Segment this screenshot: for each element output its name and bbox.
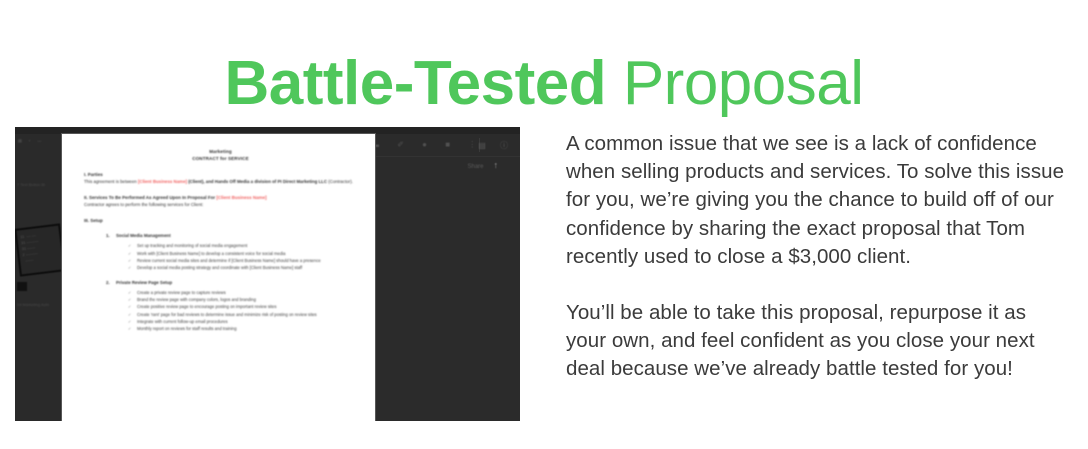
list-item: Brand the review page with company color… xyxy=(128,297,357,304)
toolbar-icons-right[interactable]: ▤ ⓘ xyxy=(478,140,514,151)
sidebar-item-label-1[interactable]: 7 Text Button Bl xyxy=(17,182,61,188)
doc-s1-text-a: This agreement is between xyxy=(84,179,138,184)
sidebar-thumbnail-lines: 11 — — 31 ——— 31 —— 2 ——— —— xyxy=(20,232,41,264)
document-preview-image[interactable]: ▤ ‹ — 7 Text Button Bl 11 — — 31 ——— 31 … xyxy=(15,127,520,421)
sidebar-item-label-2[interactable]: 04 Marketing Auth xyxy=(17,302,61,308)
doc-s1-text-c: (Contractor). xyxy=(327,179,353,184)
list-item: Review current social media sites and de… xyxy=(128,258,357,265)
description-text: A common issue that we see is a lack of … xyxy=(566,130,1071,384)
doc-title-line-2: CONTRACT for SERVICE xyxy=(84,155,357,162)
list-item: Create a private review page to capture … xyxy=(128,290,357,297)
list-item: Integrate with current follow-up email p… xyxy=(128,319,357,326)
list-item: Create 'rant' page for bad reviews to de… xyxy=(128,312,357,319)
doc-section-1-heading: I. Parties xyxy=(84,171,357,178)
viewer-titlebar xyxy=(15,127,520,134)
sidebar-thumbnail[interactable]: 11 — — 31 ——— 31 —— 2 ——— —— xyxy=(15,223,66,276)
doc-subsection-2-title: Private Review Page Setup xyxy=(116,280,172,285)
doc-s2-placeholder: [Client Business Name] xyxy=(216,195,266,200)
list-item: Set up tracking and monitoring of social… xyxy=(128,243,357,250)
list-item: Develop a social media posting strategy … xyxy=(128,265,357,272)
doc-subsection-2-bullets: Create a private review page to capture … xyxy=(128,290,357,332)
list-item: Create positive review page to encourage… xyxy=(128,304,357,311)
page-title-regular: Proposal xyxy=(606,49,863,118)
doc-s1-placeholder: [Client Business Name] xyxy=(138,179,187,184)
paragraph-2: You’ll be able to take this proposal, re… xyxy=(566,299,1071,384)
doc-s1-text-b: (Client), and Hands Off Media a division… xyxy=(187,179,327,184)
doc-subsection-2-number: 2. xyxy=(106,279,116,286)
page-title-bold: Battle-Tested xyxy=(224,49,606,118)
doc-subsection-1-title: Social Media Management xyxy=(116,233,171,238)
doc-section-2-heading: II. Services To Be Performed As Agreed U… xyxy=(84,194,357,201)
doc-subsection-1: 1.Social Media Management xyxy=(106,232,357,239)
viewer-sidebar[interactable]: ▤ ‹ — 7 Text Button Bl 11 — — 31 ——— 31 … xyxy=(15,134,63,421)
up-arrow-icon[interactable]: ↑ xyxy=(494,160,499,170)
sidebar-block-icon xyxy=(17,282,27,291)
doc-subsection-1-number: 1. xyxy=(106,232,116,239)
page-title: Battle-Tested Proposal xyxy=(0,46,1088,122)
doc-subsection-2: 2.Private Review Page Setup xyxy=(106,279,357,286)
doc-section-3-heading: III. Setup xyxy=(84,217,357,224)
doc-subsection-1-bullets: Set up tracking and monitoring of social… xyxy=(128,243,357,271)
sidebar-icon-row[interactable]: ▤ ‹ — xyxy=(18,138,62,144)
doc-section-2-body: Contractor agrees to perform the followi… xyxy=(84,201,357,208)
doc-title-line-1: Marketing xyxy=(84,148,357,155)
list-item: Monthly report on reviews for staff resu… xyxy=(128,326,357,333)
content-area: ▤ ‹ — 7 Text Button Bl 11 — — 31 ——— 31 … xyxy=(0,116,1088,449)
document-body: Marketing CONTRACT for SERVICE I. Partie… xyxy=(84,148,357,333)
viewer-toolbar[interactable]: ▬ ✐ ● ■ ⋮ ▤ ⓘ xyxy=(365,134,520,157)
share-control[interactable]: Share↑ xyxy=(467,160,498,170)
doc-s2-heading-text: II. Services To Be Performed As Agreed U… xyxy=(84,195,216,200)
toolbar-icons-left[interactable]: ▬ ✐ ● ■ ⋮ xyxy=(371,140,484,149)
doc-section-1-body: This agreement is between [Client Busine… xyxy=(84,178,357,185)
paragraph-1: A common issue that we see is a lack of … xyxy=(566,130,1071,271)
share-label: Share xyxy=(467,164,483,170)
document-page: Marketing CONTRACT for SERVICE I. Partie… xyxy=(62,134,375,421)
list-item: Work with [Client Business Name] to deve… xyxy=(128,251,357,258)
